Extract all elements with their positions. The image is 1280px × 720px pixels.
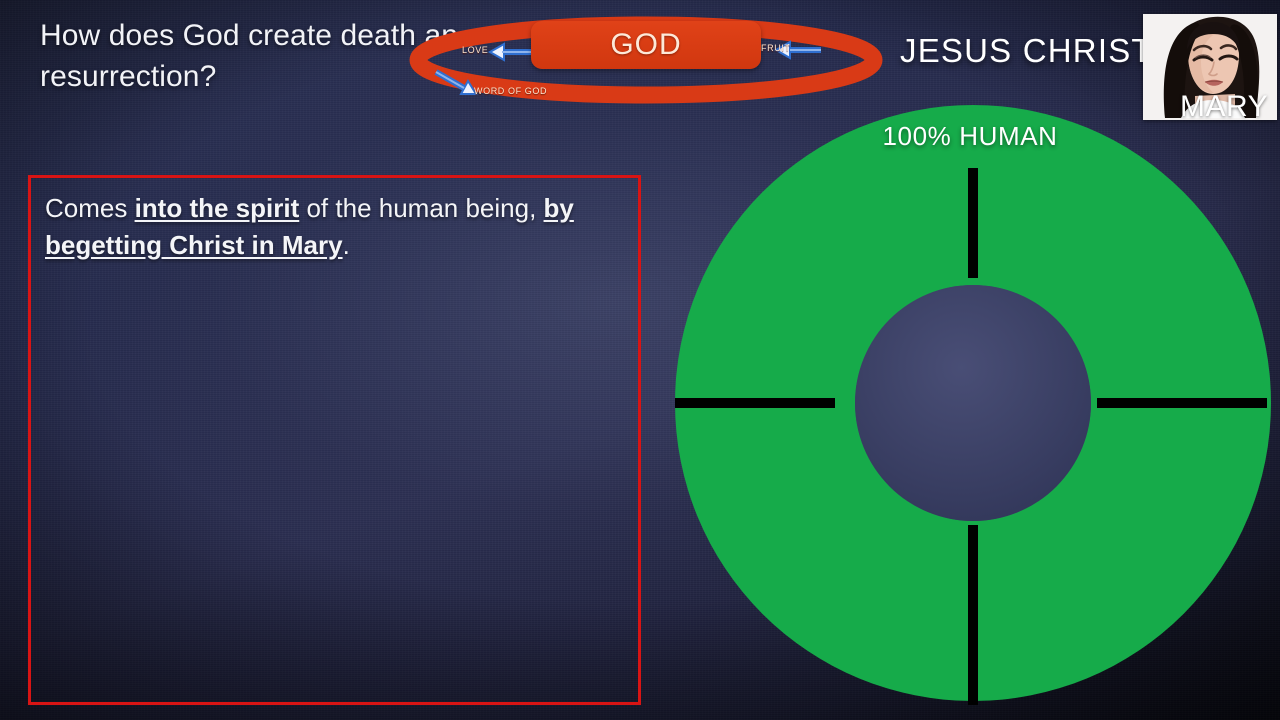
answer-segment-2: of the human being,: [299, 193, 543, 223]
answer-text: Comes into the spirit of the human being…: [45, 190, 630, 264]
donut-label-100-percent-human: 100% HUMAN: [660, 123, 1280, 149]
god-banner: GOD: [531, 21, 761, 69]
donut-spoke-left: [675, 398, 835, 408]
donut-spoke-bottom: [968, 525, 978, 705]
donut-spoke-right: [1097, 398, 1267, 408]
answer-segment-4: .: [343, 230, 350, 260]
human-donut-diagram: 100% HUMAN: [660, 95, 1280, 720]
donut-spoke-top: [968, 168, 978, 278]
answer-box: Comes into the spirit of the human being…: [28, 175, 641, 705]
god-cycle-diagram: GOD LOVE FRUIT WORD OF GOD: [406, 10, 886, 110]
answer-segment-1: into the spirit: [135, 193, 300, 223]
donut-svg: [660, 95, 1280, 720]
answer-segment-0: Comes: [45, 193, 135, 223]
jesus-christ-heading: JESUS CHRIST: [900, 34, 1153, 67]
cycle-label-fruit: FRUIT: [761, 43, 791, 53]
slide-canvas: How does God create death an resurrectio…: [0, 0, 1280, 720]
mary-caption: MARY: [1180, 92, 1268, 120]
cycle-label-word-of-god: WORD OF GOD: [474, 86, 547, 96]
love-arrow-icon: [490, 44, 531, 60]
cycle-label-love: LOVE: [462, 45, 488, 55]
page-title: How does God create death an resurrectio…: [40, 16, 460, 98]
mary-portrait-photo: MARY: [1143, 14, 1277, 120]
god-banner-label: GOD: [610, 30, 681, 60]
